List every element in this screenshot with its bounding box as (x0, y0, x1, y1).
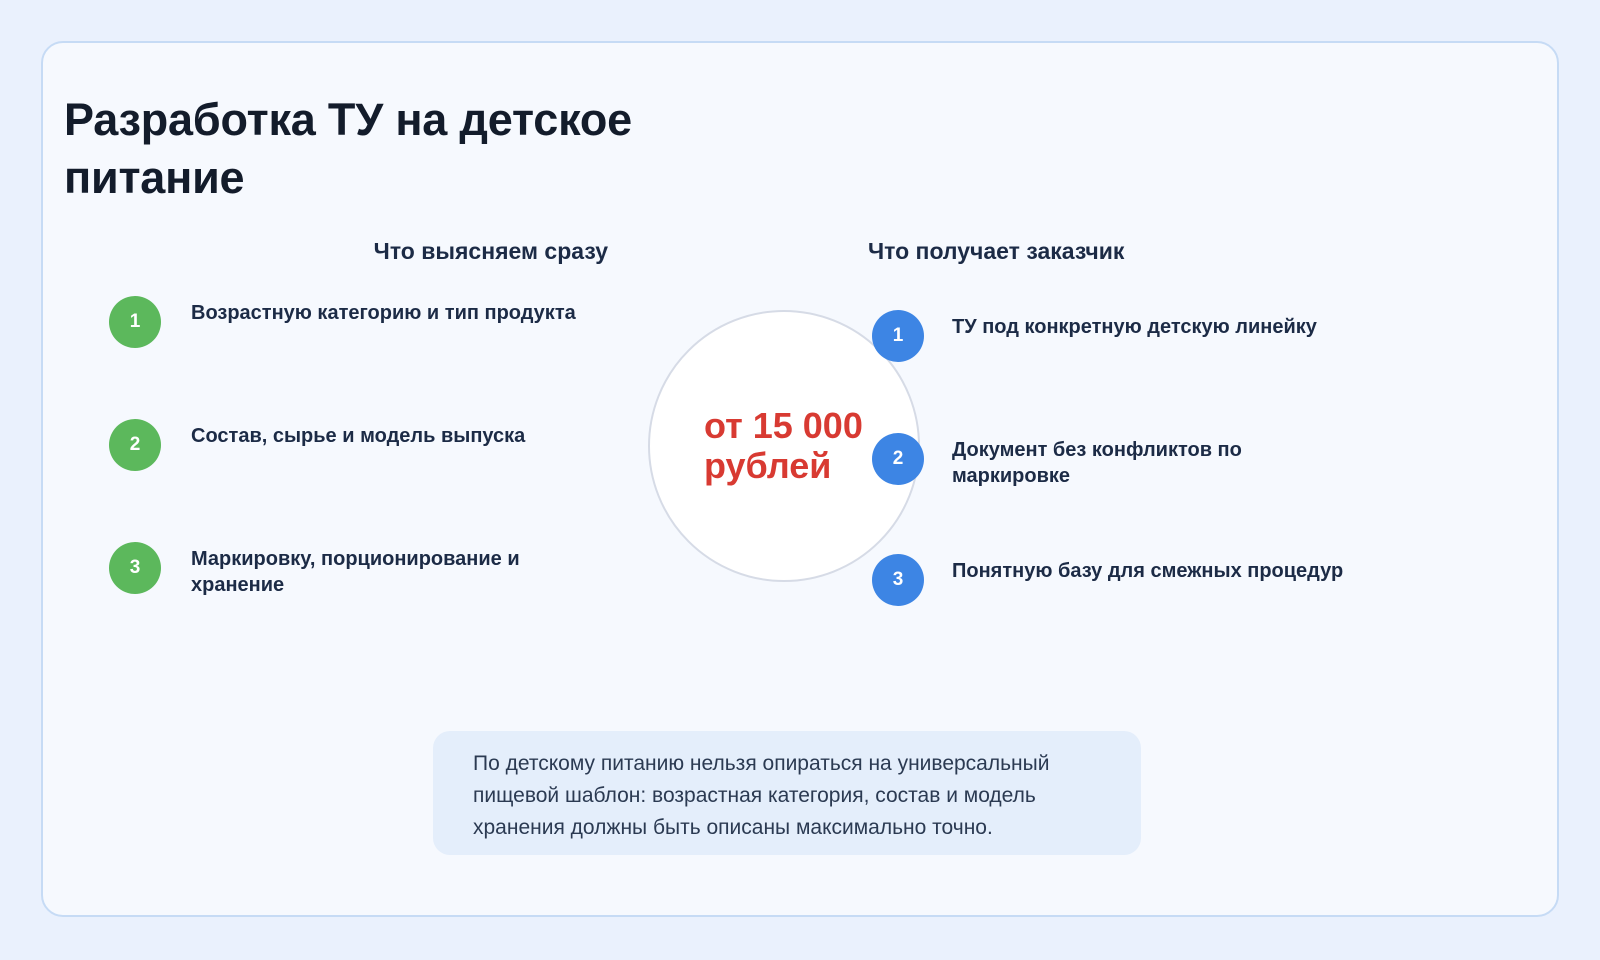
step-number-badge: 3 (109, 542, 161, 594)
list-item: 1 Возрастную категорию и тип продукта (109, 296, 579, 348)
list-item: 1 ТУ под конкретную детскую линейку (872, 310, 1372, 362)
list-item-label: Возрастную категорию и тип продукта (191, 296, 579, 326)
step-number-badge: 2 (872, 433, 924, 485)
list-item-label: ТУ под конкретную детскую линейку (952, 310, 1352, 340)
left-column-heading: Что выясняем сразу (283, 238, 608, 265)
step-number-badge: 1 (872, 310, 924, 362)
list-item: 2 Документ без конфликтов по маркировке (872, 433, 1372, 489)
note-text: По детскому питанию нельзя опираться на … (473, 748, 1073, 844)
price-badge-label: от 15 000 рублей (704, 406, 864, 487)
list-item-label: Документ без конфликтов по маркировке (952, 433, 1352, 489)
list-item: 2 Состав, сырье и модель выпуска (109, 419, 579, 471)
list-item-label: Состав, сырье и модель выпуска (191, 419, 579, 449)
list-item: 3 Понятную базу для смежных процедур (872, 554, 1372, 606)
list-item-label: Понятную базу для смежных процедур (952, 554, 1352, 584)
list-item-label: Маркировку, порционирование и хранение (191, 542, 579, 598)
page-title: Разработка ТУ на детское питание (64, 91, 704, 206)
step-number-badge: 2 (109, 419, 161, 471)
step-number-badge: 3 (872, 554, 924, 606)
right-column-heading: Что получает заказчик (868, 238, 1328, 265)
step-number-badge: 1 (109, 296, 161, 348)
list-item: 3 Маркировку, порционирование и хранение (109, 542, 579, 598)
